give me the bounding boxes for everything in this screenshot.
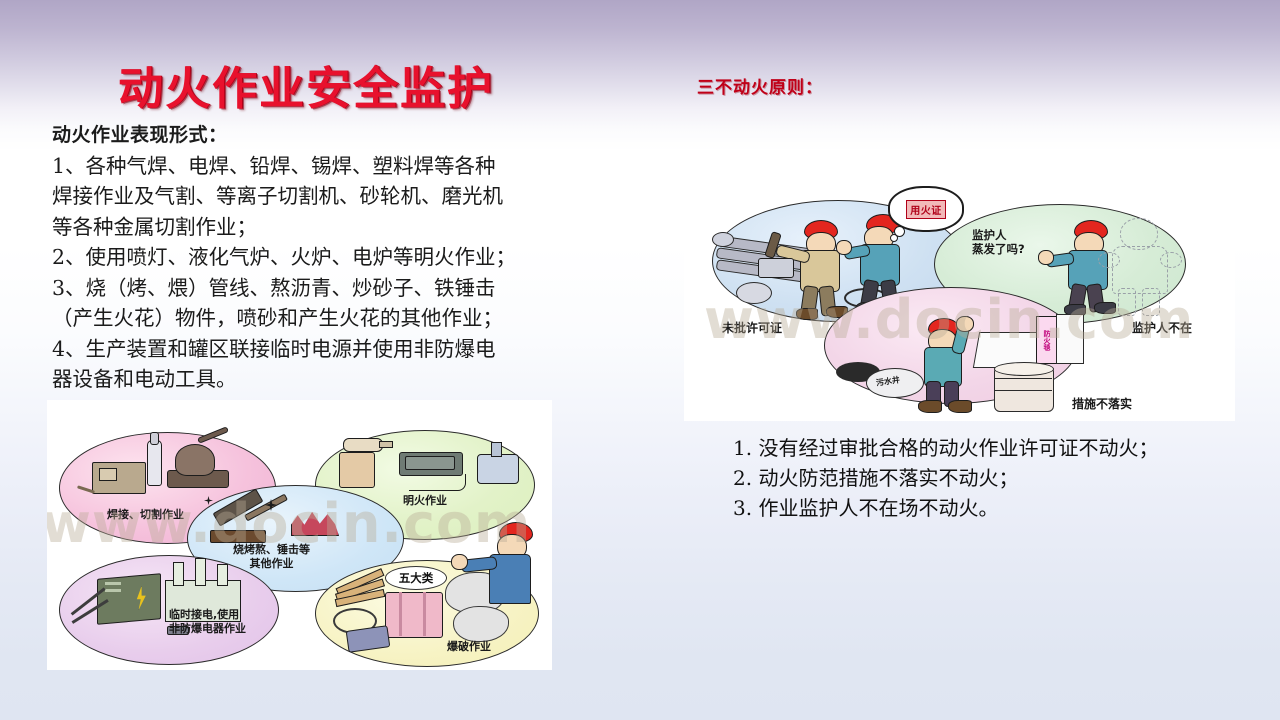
rolled-sheet-icon (1056, 314, 1084, 364)
label-other-hot-work: 烧烤熬、锤击等 其他作业 (233, 543, 310, 571)
absent-person-hand-outline-icon-2 (1160, 252, 1182, 268)
drum-rib-icon-2 (994, 390, 1052, 391)
blowtorch-icon (343, 438, 383, 452)
welding-machine-panel-icon (99, 468, 117, 481)
label-welding-cutting: 焊接、切割作业 (107, 508, 184, 521)
left-body-line-4: 2、使用喷灯、液化气炉、火炉、电炉等明火作业； (52, 242, 612, 273)
label-no-watcher: 监护人不在 (1132, 322, 1192, 335)
absent-person-leg-outline-icon-1 (1118, 288, 1136, 316)
left-body-line-8: 器设备和电动工具。 (52, 364, 612, 395)
lone-worker-hand-icon (1038, 250, 1054, 265)
thought-bubble-dot-2 (890, 234, 898, 242)
worried-worker-hand-icon (956, 316, 974, 332)
left-body-line-6: （产生火花）物件，喷砂和产生火花的其他作业； (52, 303, 612, 334)
three-no-fire-principles-list: 1. 没有经过审批合格的动火作业许可证不动火； 2. 动火防范措施不落实不动火；… (733, 433, 1253, 523)
left-body-text: 动火作业表现形式： 1、各种气焊、电焊、铅焊、锡焊、塑料焊等各种 焊接作业及气割… (52, 120, 612, 395)
drum-rib-icon-1 (994, 378, 1052, 379)
five-categories-badge: 五大类 (385, 566, 447, 590)
grinder-wheel-icon (175, 444, 215, 476)
fire-blanket-sign: 防火毯 (1036, 316, 1058, 364)
label-no-measures: 措施不落实 (1072, 398, 1132, 411)
plant-tower-icon-1 (173, 562, 184, 586)
principle-item-1: 1. 没有经过审批合格的动火作业许可证不动火； (733, 433, 1253, 463)
worker-hand-icon (451, 554, 468, 570)
absent-person-leg-outline-icon-2 (1142, 288, 1160, 316)
label-other-line-2: 其他作业 (250, 557, 294, 570)
right-section-heading: 三不动火原则： (697, 73, 823, 98)
label-temp-line-1: 临时接电,使用 (169, 608, 239, 621)
absent-person-body-outline-icon (1112, 246, 1168, 294)
thought-text-watcher: 监护人 蒸发了吗? (972, 228, 1025, 256)
permit-chip-label: 用火证 (906, 200, 946, 219)
label-temporary-power: 临时接电,使用 非防爆电器作业 (169, 608, 246, 636)
left-body-heading: 动火作业表现形式： (52, 120, 612, 151)
five-categories-illustration: 焊接、切割作业 明火作业 烧烤熬、锤击等 其他作业 (47, 400, 552, 670)
heater-knob-icon (491, 442, 502, 457)
electric-heater-icon (477, 454, 519, 484)
welder-toolbox-icon (758, 258, 794, 278)
label-temp-line-2: 非防爆电器作业 (169, 622, 246, 635)
gas-stove-icon (339, 452, 375, 488)
left-body-line-7: 4、生产装置和罐区联接临时电源并使用非防爆电 (52, 334, 612, 365)
crate-strap-icon-1 (399, 592, 402, 636)
blowtorch-nozzle-icon (379, 441, 393, 448)
hotplate-surface-icon (405, 456, 455, 470)
worried-worker-boot-icon-2 (948, 400, 972, 413)
torch-tip-icon (150, 432, 159, 445)
slide-canvas: 动火作业安全监护 三不动火原则： 动火作业表现形式： 1、各种气焊、电焊、铅焊、… (0, 0, 1280, 720)
worried-worker-boot-icon-1 (918, 400, 942, 413)
crate-strap-icon-2 (423, 592, 426, 636)
label-no-permit: 未批许可证 (722, 322, 782, 335)
explosive-crate-icon (385, 592, 443, 638)
page-title: 动火作业安全监护 (118, 52, 494, 117)
hose-coil-icon (736, 282, 772, 304)
label-open-flame: 明火作业 (403, 494, 447, 507)
left-body-line-1: 1、各种气焊、电焊、铅焊、锡焊、塑料焊等各种 (52, 151, 612, 182)
welder-boot-icon-1 (796, 308, 818, 320)
plant-tower-icon-3 (217, 564, 228, 586)
blast-cloud-icon-2 (453, 606, 509, 642)
left-body-line-5: 3、烧（烤、煨）管线、熬沥青、炒砂子、铁锤击 (52, 273, 612, 304)
left-body-line-3: 等各种金属切割作业； (52, 212, 612, 243)
think-line-2: 蒸发了吗? (972, 242, 1025, 256)
anvil-plate-icon (210, 530, 266, 543)
pipe-flange-icon (712, 232, 734, 247)
absent-person-hand-outline-icon-1 (1098, 252, 1120, 268)
label-other-line-1: 烧烤熬、锤击等 (233, 543, 310, 556)
think-line-1: 监护人 (972, 228, 1007, 242)
supervisor-hand-icon (836, 240, 852, 255)
label-blasting: 爆破作业 (447, 640, 491, 653)
drum-top-icon (994, 362, 1054, 376)
left-body-line-2: 焊接作业及气割、等离子切割机、砂轮机、磨光机 (52, 181, 612, 212)
plant-tower-icon-2 (195, 558, 206, 586)
torch-icon (147, 440, 162, 486)
lone-worker-boot-icon-2 (1094, 302, 1116, 314)
principle-item-2: 2. 动火防范措施不落实不动火； (733, 463, 1253, 493)
box-slot-icon-2 (105, 589, 121, 592)
principle-item-3: 3. 作业监护人不在场不动火。 (733, 493, 1253, 523)
three-violations-illustration: 用火证 未批许可证 监护人 蒸发了吗? (684, 170, 1235, 421)
box-slot-icon-1 (105, 582, 121, 585)
hotplate-cord-icon (409, 474, 466, 491)
